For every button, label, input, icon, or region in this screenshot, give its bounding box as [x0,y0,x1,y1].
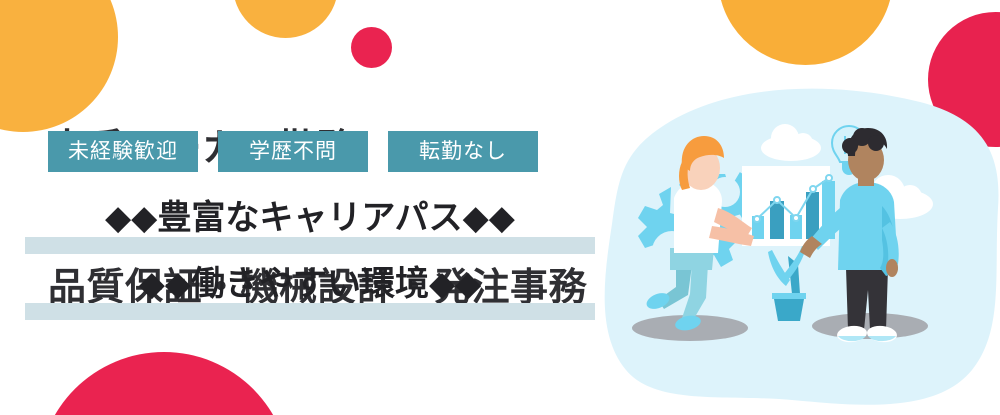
job-ad-banner: 大手メーカー勤務 品質保証・機械設計・発注事務 未経験歓迎 学歴不問 転勤なし … [0,0,1000,415]
badge-no-experience: 未経験歓迎 [48,131,198,172]
badge-no-education-requirement: 学歴不問 [218,131,368,172]
highlight-text-1: ◆◆豊富なキャリアパス◆◆ [25,196,595,241]
highlight-row-2: ◆◆働きやすい環境◆◆ [25,262,595,320]
circle-orange-top-right [718,0,893,65]
teamwork-gears-chart-illustration [600,88,1000,415]
highlight-row-1: ◆◆豊富なキャリアパス◆◆ [25,196,595,254]
badge-no-relocation: 転勤なし [388,131,538,172]
highlight-text-2: ◆◆働きやすい環境◆◆ [25,262,595,307]
chart-bar-2 [770,201,784,239]
tag-row: 未経験歓迎 学歴不問 転勤なし [48,131,538,172]
